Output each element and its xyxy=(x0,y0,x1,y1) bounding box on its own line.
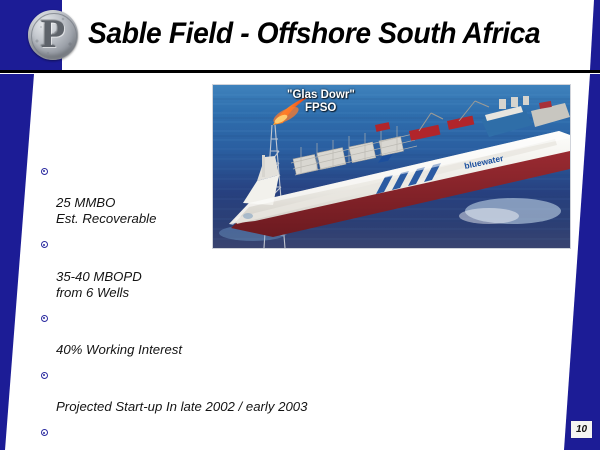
bullet-text: 40% Working Interest xyxy=(56,342,182,357)
presentation-slide: P Sable Field - Offshore South Africa xyxy=(0,0,600,450)
bullet-marker-icon xyxy=(41,372,48,379)
bullet-item: Projected Start-up In late 2002 / early … xyxy=(40,367,560,415)
bullet-text: 35-40 MBOPD from 6 Wells xyxy=(56,269,142,300)
page-number-text: 10 xyxy=(576,425,587,435)
decoration-right-top-wedge xyxy=(590,0,600,70)
company-logo-medallion: P xyxy=(28,10,78,60)
bullet-item: 25 MMBO Est. Recoverable xyxy=(40,163,560,227)
slide-title: Sable Field - Offshore South Africa xyxy=(88,17,530,51)
title-divider-rule xyxy=(0,70,600,73)
logo-letter: P xyxy=(28,10,78,60)
bullet-marker-icon xyxy=(41,429,48,436)
page-number-badge: 10 xyxy=(571,421,592,438)
photo-caption-vessel-type: FPSO xyxy=(305,102,336,114)
bullet-item: 35-40 MBOPD from 6 Wells xyxy=(40,236,560,300)
bullet-text: Projected Start-up In late 2002 / early … xyxy=(56,399,307,414)
photo-caption-vessel-name: "Glas Dowr" xyxy=(287,89,355,101)
bullet-text: 25 MMBO Est. Recoverable xyxy=(56,195,156,226)
bullet-marker-icon xyxy=(41,168,48,175)
bullet-marker-icon xyxy=(41,241,48,248)
bullet-item: Expected to Increase Company's Worldwide… xyxy=(40,424,560,450)
decoration-left-wedge xyxy=(0,74,34,450)
bullet-item: 40% Working Interest xyxy=(40,310,560,358)
slide-bullet-list: 25 MMBO Est. Recoverable 35-40 MBOPD fro… xyxy=(40,163,560,450)
bullet-marker-icon xyxy=(41,315,48,322)
